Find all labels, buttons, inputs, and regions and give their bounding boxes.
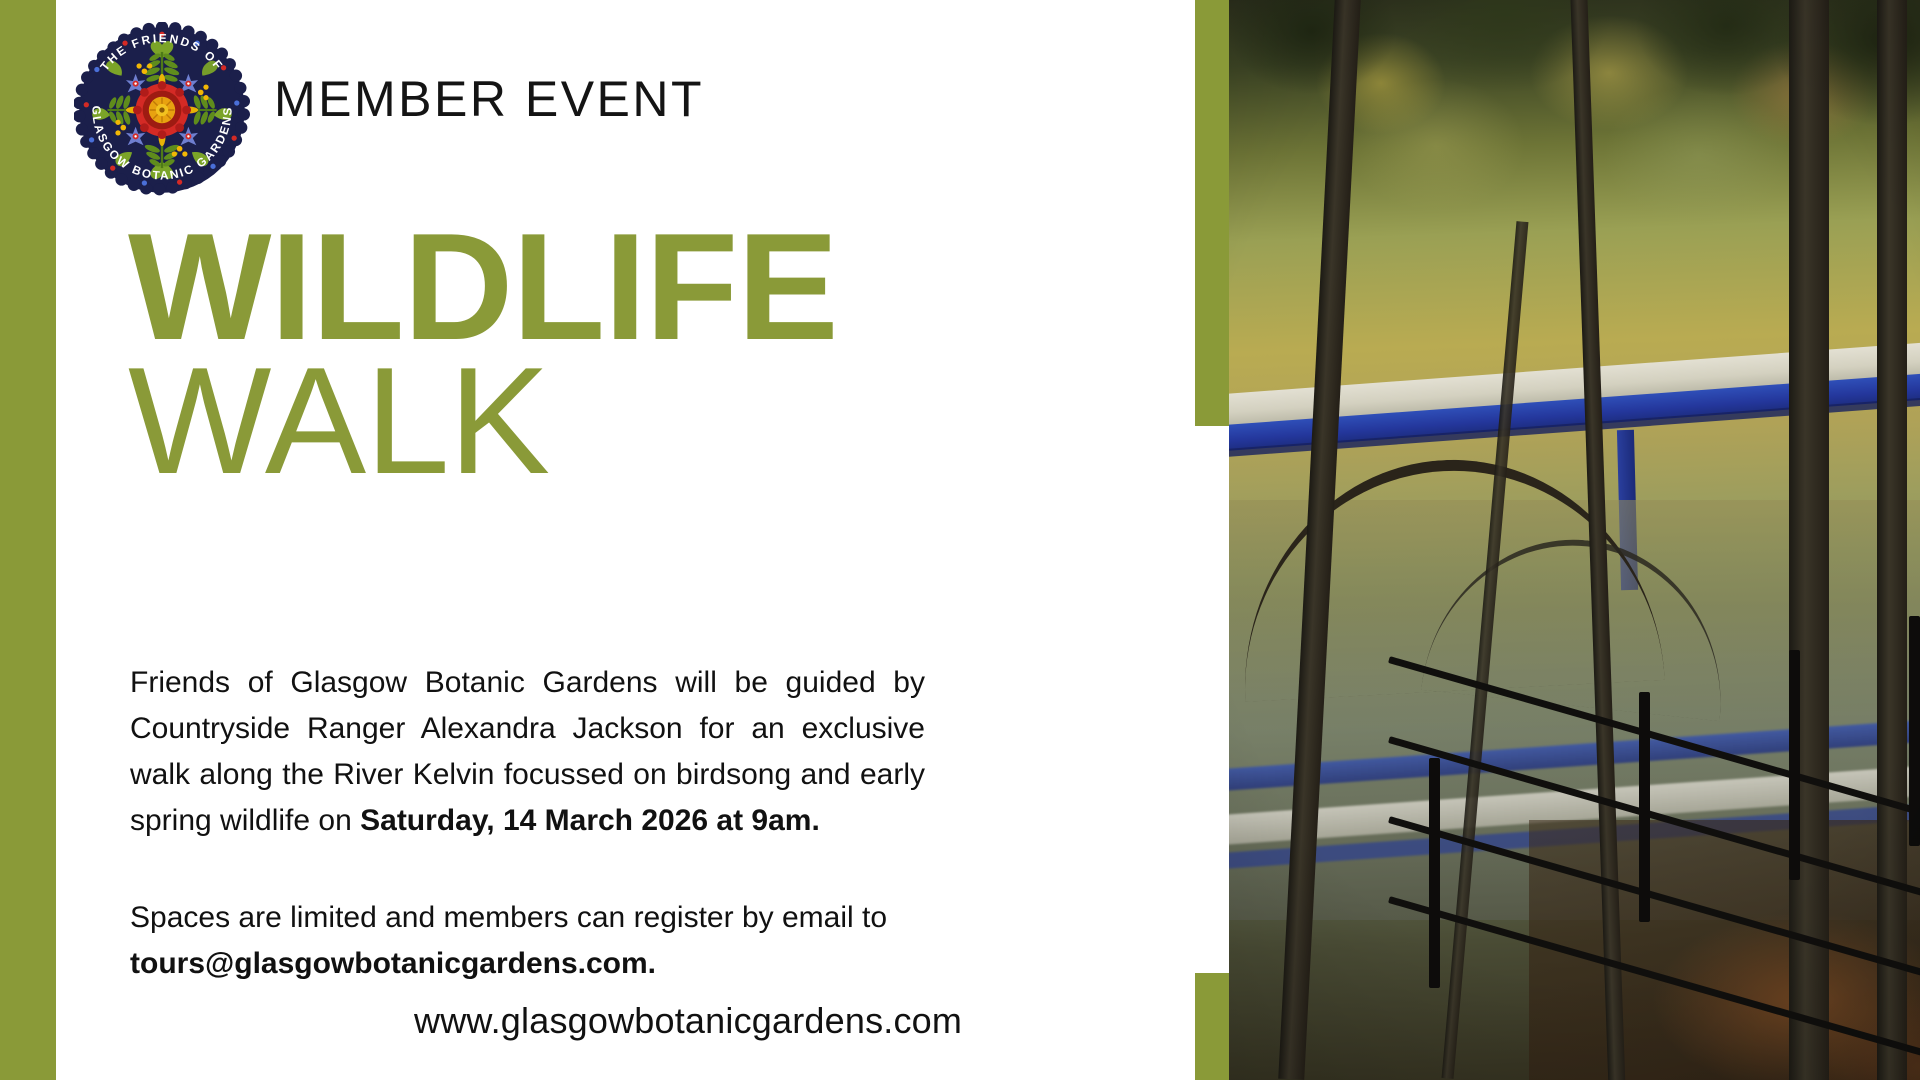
registration-email[interactable]: tours@glasgowbotanicgardens.com. [130, 947, 656, 980]
page-title-line-2: WALK [128, 352, 1138, 492]
page-title: WILDLIFE WALK [128, 218, 1138, 492]
poster-canvas: THE FRIENDS OF GLASGOW BOTANIC GARDENS M… [0, 0, 1920, 1080]
registration-text: Spaces are limited and members can regis… [130, 901, 887, 934]
friends-of-glasgow-botanic-gardens-logo: THE FRIENDS OF GLASGOW BOTANIC GARDENS [74, 22, 250, 198]
website-url[interactable]: www.glasgowbotanicgardens.com [414, 1000, 962, 1042]
member-event-eyebrow: MEMBER EVENT [274, 70, 704, 128]
river-kelvin-autumn-woodland-photo [1229, 0, 1920, 1080]
right-accent-bar-top [1195, 0, 1231, 426]
photo-vignette [1229, 0, 1920, 1080]
registration-paragraph: Spaces are limited and members can regis… [130, 895, 930, 987]
left-accent-bar [0, 0, 56, 1080]
event-description-paragraph: Friends of Glasgow Botanic Gardens will … [130, 660, 925, 844]
event-date-time: Saturday, 14 March 2026 at 9am. [360, 804, 820, 837]
right-accent-bar-bottom [1195, 973, 1231, 1080]
